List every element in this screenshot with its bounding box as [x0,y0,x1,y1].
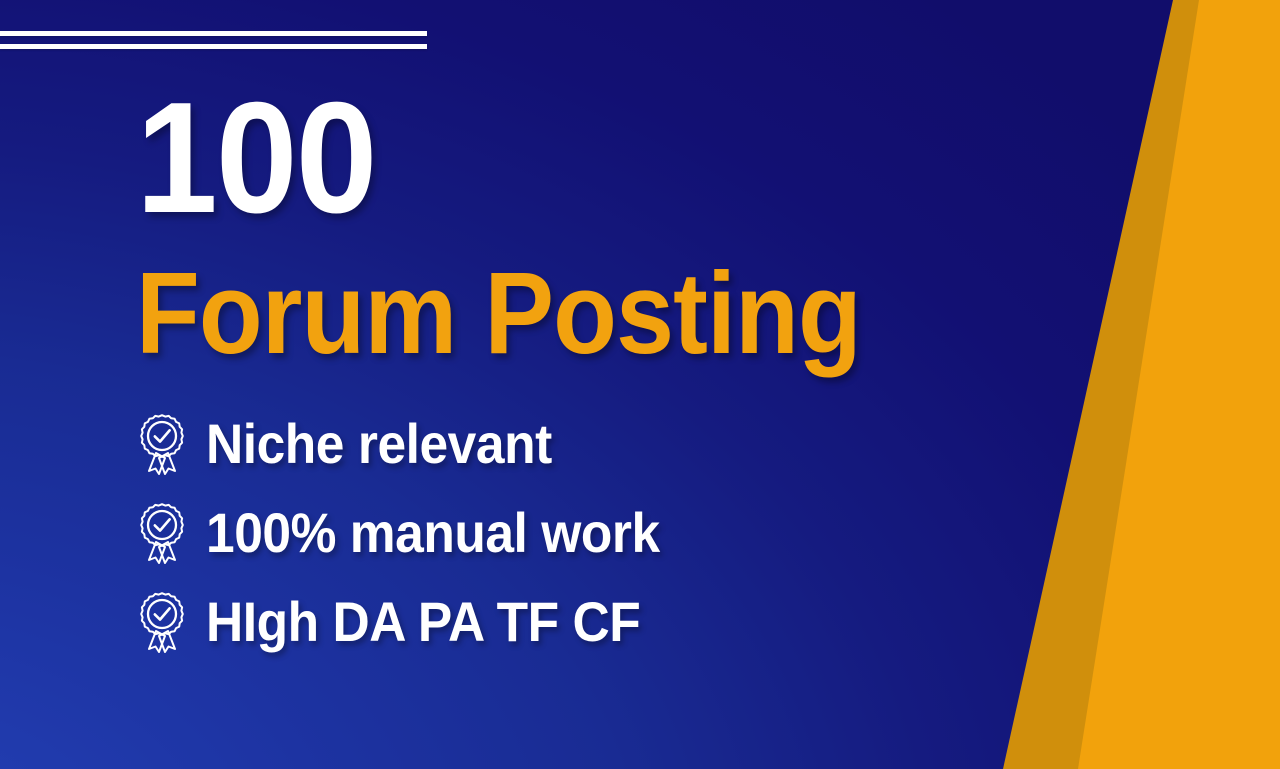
award-badge-icon [136,591,188,653]
award-badge-icon [136,413,188,475]
headline-number: 100 [136,86,954,231]
divider-line-bottom [0,44,427,49]
list-item: 100% manual work [136,502,1016,564]
headline-title: Forum Posting [136,255,928,371]
feature-label: 100% manual work [206,505,660,561]
feature-label: HIgh DA PA TF CF [206,594,640,650]
feature-list: Niche relevant 100% manual work [136,413,1016,653]
list-item: HIgh DA PA TF CF [136,591,1016,653]
feature-label: Niche relevant [206,416,552,472]
top-divider-group [0,31,427,49]
divider-line-top [0,31,427,36]
list-item: Niche relevant [136,413,1016,475]
banner-content: 100 Forum Posting Niche relevant [136,86,1016,653]
award-badge-icon [136,502,188,564]
promo-banner: 100 Forum Posting Niche relevant [0,0,1280,769]
